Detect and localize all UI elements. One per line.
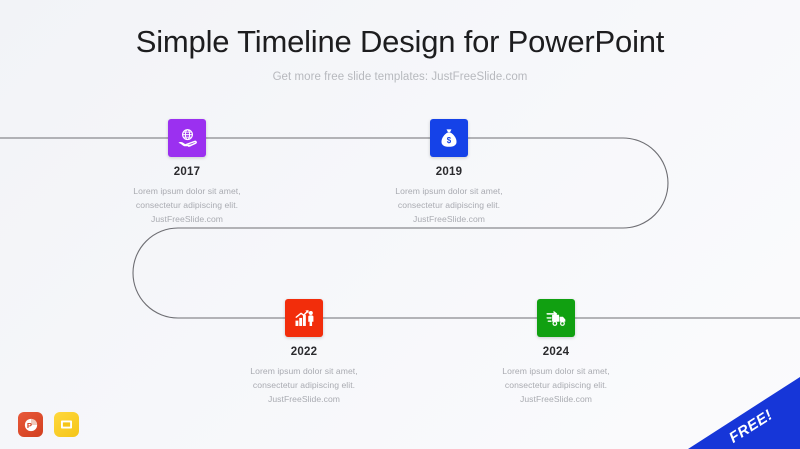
desc-line-1: Lorem ipsum dolor sit amet, xyxy=(204,365,404,379)
milestone-year: 2017 xyxy=(87,166,287,178)
desc-line-3: JustFreeSlide.com xyxy=(456,393,656,407)
milestone-2019: $ 2019 Lorem ipsum dolor sit amet, conse… xyxy=(349,119,549,227)
desc-line-1: Lorem ipsum dolor sit amet, xyxy=(87,185,287,199)
milestone-description: Lorem ipsum dolor sit amet, consectetur … xyxy=(87,185,287,227)
desc-line-2: consectetur adipiscing elit. xyxy=(456,379,656,393)
delivery-truck-icon xyxy=(537,299,575,337)
free-corner-ribbon: FREE! xyxy=(688,377,800,449)
milestone-2024: 2024 Lorem ipsum dolor sit amet, consect… xyxy=(456,299,656,407)
desc-line-2: consectetur adipiscing elit. xyxy=(87,199,287,213)
milestone-year: 2022 xyxy=(204,346,404,358)
milestone-description: Lorem ipsum dolor sit amet, consectetur … xyxy=(456,365,656,407)
slide-canvas: Simple Timeline Design for PowerPoint Ge… xyxy=(0,0,800,449)
milestone-2017: 2017 Lorem ipsum dolor sit amet, consect… xyxy=(87,119,287,227)
svg-text:P: P xyxy=(26,420,31,429)
milestone-description: Lorem ipsum dolor sit amet, consectetur … xyxy=(204,365,404,407)
desc-line-3: JustFreeSlide.com xyxy=(204,393,404,407)
milestone-year: 2024 xyxy=(456,346,656,358)
milestone-year: 2019 xyxy=(349,166,549,178)
hand-globe-icon xyxy=(168,119,206,157)
desc-line-2: consectetur adipiscing elit. xyxy=(204,379,404,393)
page-title: Simple Timeline Design for PowerPoint xyxy=(0,0,800,60)
milestone-2022: 2022 Lorem ipsum dolor sit amet, consect… xyxy=(204,299,404,407)
page-subtitle: Get more free slide templates: JustFreeS… xyxy=(0,60,800,83)
milestone-description: Lorem ipsum dolor sit amet, consectetur … xyxy=(349,185,549,227)
powerpoint-icon[interactable]: P xyxy=(18,412,43,437)
desc-line-3: JustFreeSlide.com xyxy=(87,213,287,227)
growth-chart-person-icon xyxy=(285,299,323,337)
desc-line-2: consectetur adipiscing elit. xyxy=(349,199,549,213)
svg-text:$: $ xyxy=(447,136,452,145)
money-bag-icon: $ xyxy=(430,119,468,157)
slide-header: Simple Timeline Design for PowerPoint Ge… xyxy=(0,0,800,83)
app-format-badges: P xyxy=(18,412,79,437)
desc-line-1: Lorem ipsum dolor sit amet, xyxy=(456,365,656,379)
desc-line-1: Lorem ipsum dolor sit amet, xyxy=(349,185,549,199)
google-slides-icon[interactable] xyxy=(54,412,79,437)
desc-line-3: JustFreeSlide.com xyxy=(349,213,549,227)
